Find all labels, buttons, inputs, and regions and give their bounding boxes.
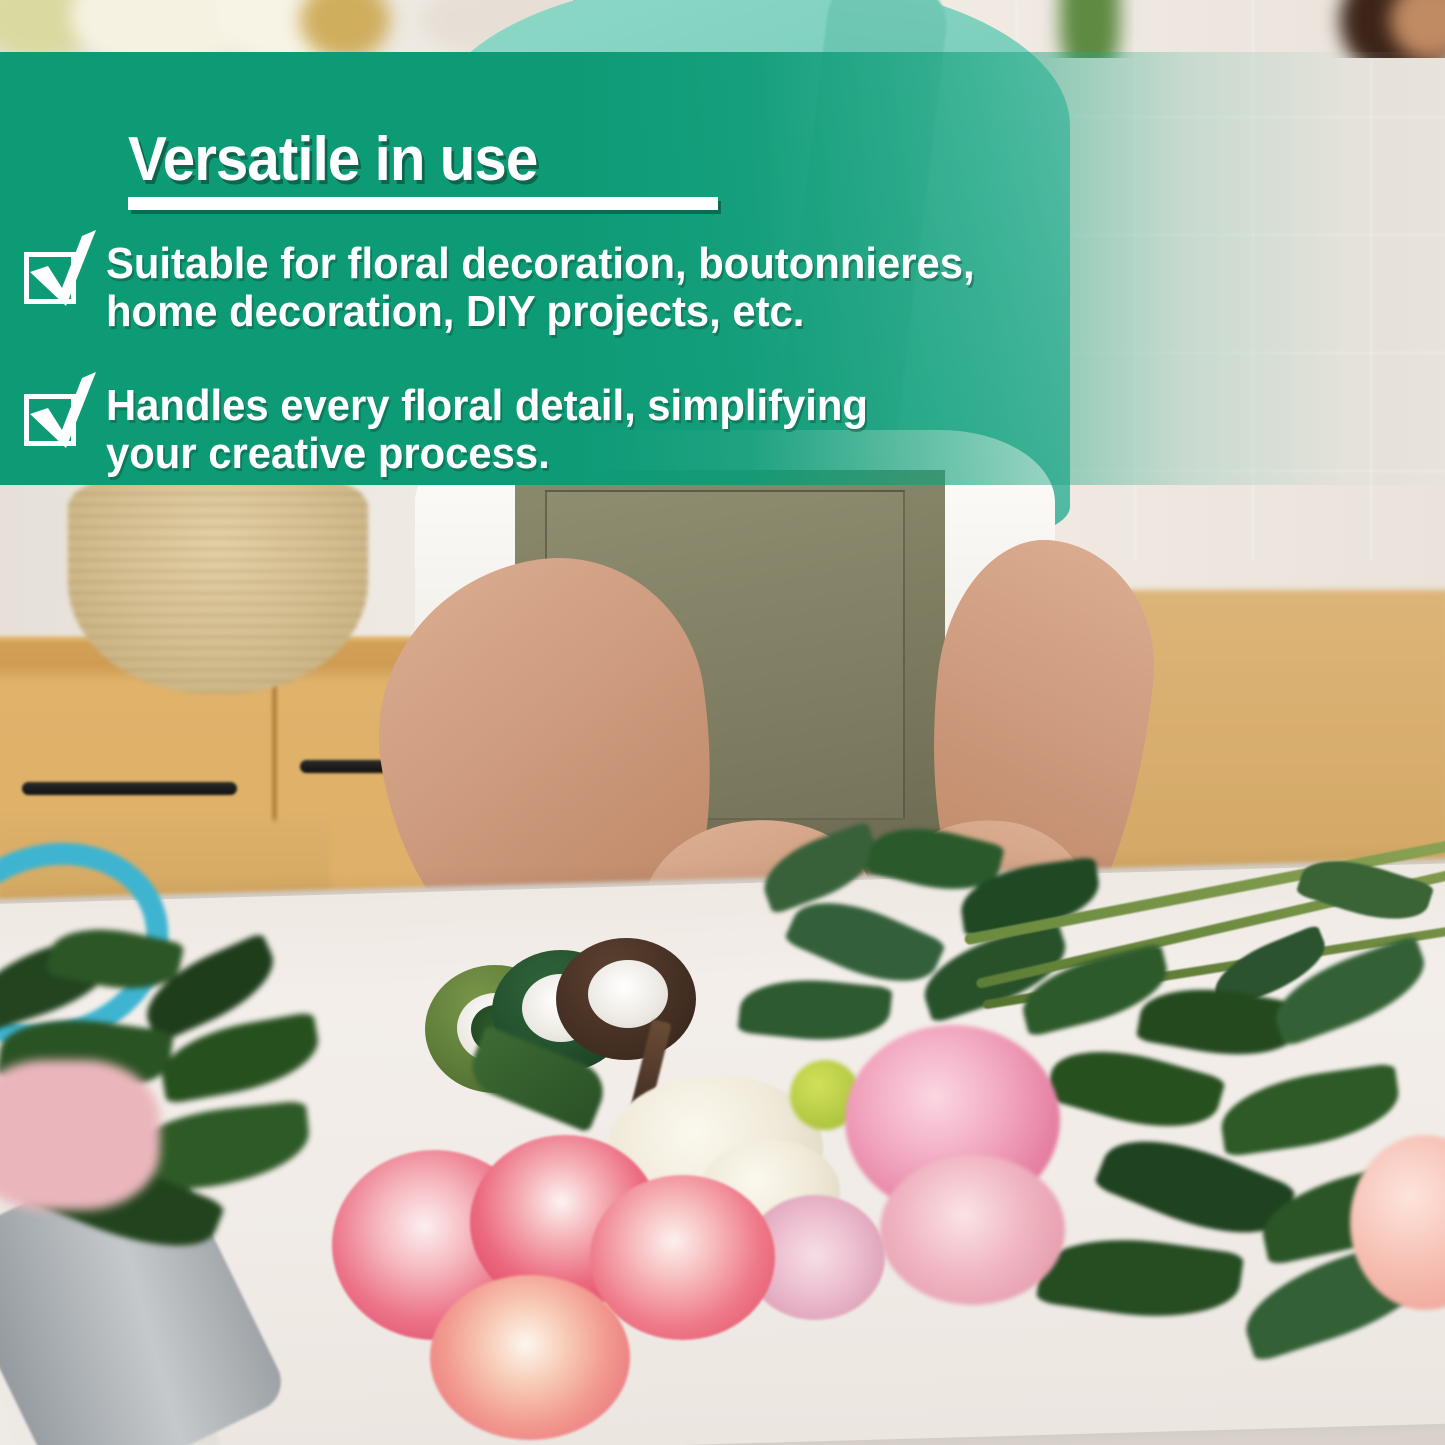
- floral-tape-roll-brown: [556, 938, 696, 1060]
- page-title: Versatile in use: [128, 124, 537, 195]
- bullet-2-line-1: Handles every floral detail, simplifying: [106, 382, 868, 430]
- feature-bullet-2: Handles every floral detail, simplifying…: [20, 382, 908, 479]
- feature-bullet-1-text: Suitable for floral decoration, boutonni…: [106, 240, 975, 337]
- cabinet-handle-left: [22, 782, 237, 795]
- title-underline: [128, 197, 718, 210]
- bullet-1-line-1: Suitable for floral decoration, boutonni…: [106, 240, 975, 288]
- product-feature-image: Versatile in use Suitable for floral dec…: [0, 0, 1445, 1445]
- feature-banner-content: Versatile in use Suitable for floral dec…: [0, 52, 1445, 485]
- wicker-basket-weave: [68, 478, 368, 693]
- bullet-1-line-2: home decoration, DIY projects, etc.: [106, 288, 975, 336]
- pink-carnation-lower: [880, 1155, 1065, 1305]
- checkbox-checked-icon: [20, 240, 82, 300]
- garden-rose-4: [430, 1275, 630, 1440]
- pink-wrapping: [0, 1060, 160, 1210]
- feature-bullet-2-text: Handles every floral detail, simplifying…: [106, 382, 868, 479]
- garden-rose-3: [590, 1175, 775, 1340]
- checkbox-checked-icon: [20, 382, 82, 442]
- bullet-2-line-2: your creative process.: [106, 430, 868, 478]
- feature-bullet-1: Suitable for floral decoration, boutonni…: [20, 240, 1020, 337]
